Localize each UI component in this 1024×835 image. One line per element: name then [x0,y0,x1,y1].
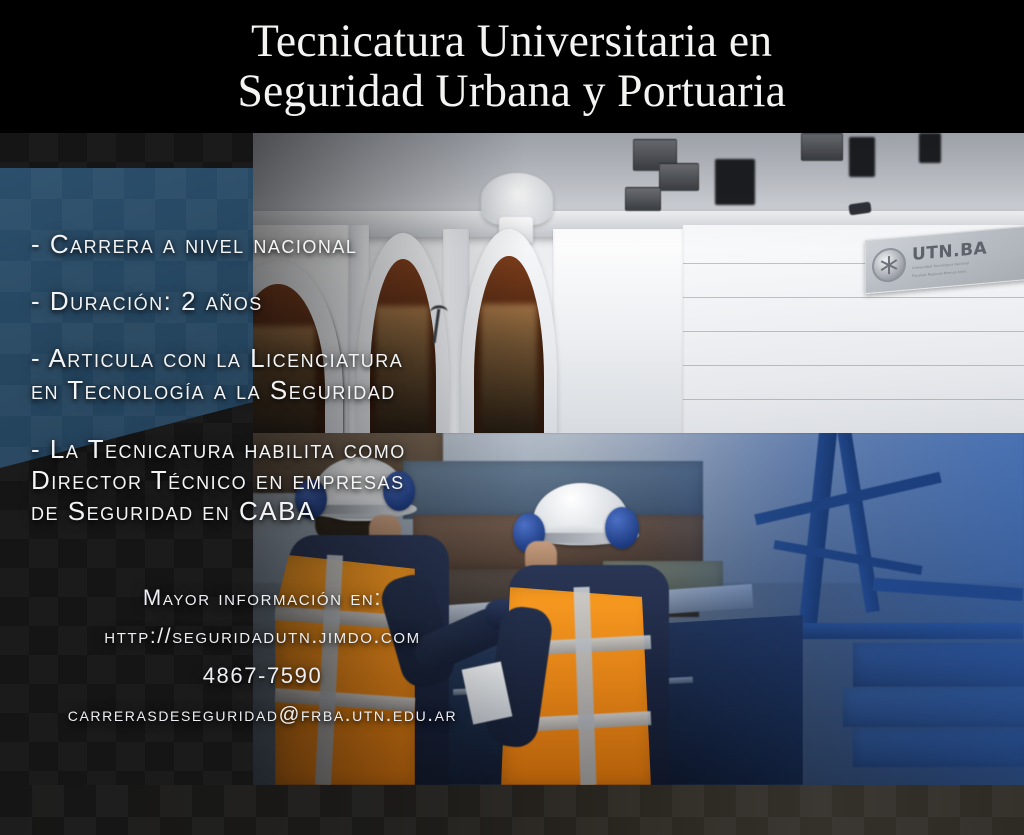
bullet-3-line-2: en Tecnología a la Seguridad [31,375,536,406]
utn-emblem-icon [872,247,906,284]
contact-block: Mayor información en: http://seguridadut… [0,585,525,741]
bullet-item-4: - La Tecnicatura habilita como Director … [36,434,536,528]
poster-title-line-2: Seguridad Urbana y Portuaria [238,67,787,117]
bullet-item-1: - Carrera a nivel nacional [36,229,536,260]
bullet-item-2: - Duración: 2 años [36,286,536,317]
bullet-1-line-1: - Carrera a nivel nacional [31,229,536,260]
bullet-4-line-3: de Seguridad en CABA [31,496,536,527]
contact-phone: 4867-7590 [0,663,525,689]
contact-email-link[interactable]: carrerasdeseguridad@frba.utn.edu.ar [0,703,525,727]
title-band: Tecnicatura Universitaria en Seguridad U… [0,0,1024,133]
bullet-2-line-1: - Duración: 2 años [31,286,536,317]
bullet-item-3: - Articula con la Licenciatura en Tecnol… [36,343,536,405]
contact-heading: Mayor información en: [0,585,525,611]
poster-title-line-1: Tecnicatura Universitaria en [251,17,772,67]
feature-bullet-list: - Carrera a nivel nacional - Duración: 2… [36,229,536,553]
bullet-4-line-2: Director Técnico en empresas [31,465,536,496]
poster-content: - Carrera a nivel nacional - Duración: 2… [0,133,560,835]
poster-root: UTN.BA Universidad Tecnológica Nacional … [0,0,1024,835]
contact-website-link[interactable]: http://seguridadutn.jimdo.com [0,625,525,649]
bullet-3-line-1: - Articula con la Licenciatura [31,343,536,374]
bullet-4-line-1: - La Tecnicatura habilita como [31,434,536,465]
